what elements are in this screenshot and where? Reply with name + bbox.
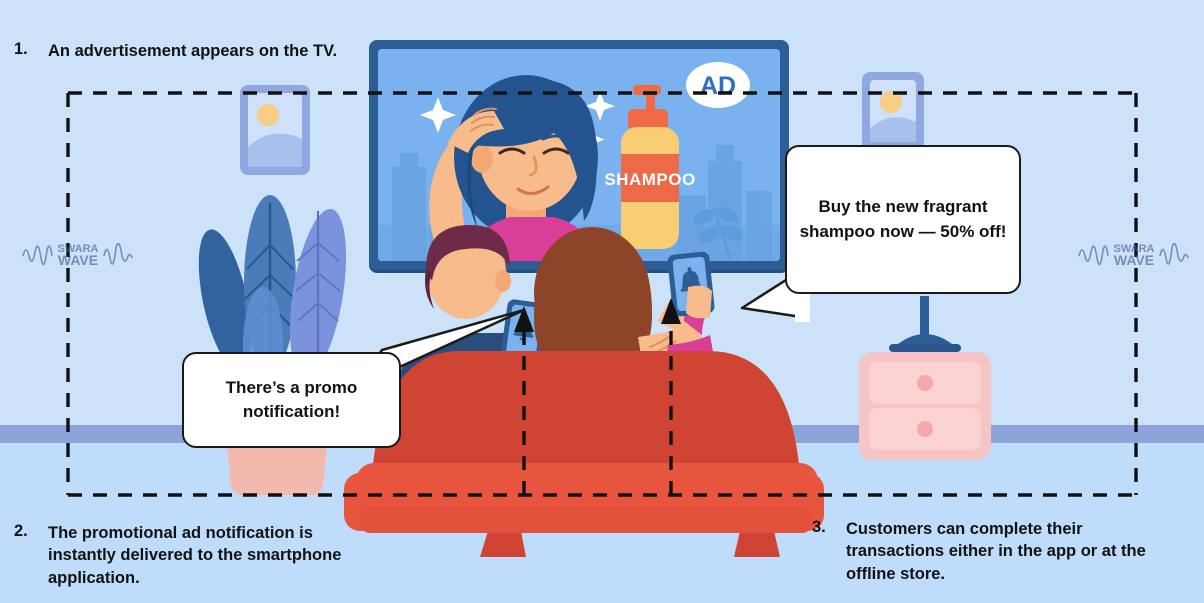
step-2-number: 2.: [14, 522, 34, 541]
framed-landscape-picture-right: [862, 72, 924, 150]
nightstand-with-lamp: [845, 296, 1015, 496]
shampoo-label: SHAMPOO: [604, 170, 695, 189]
phone-speech-bubble-text: There’s a promo notification!: [194, 376, 389, 424]
step-2-caption: 2. The promotional ad notification is in…: [14, 522, 364, 589]
watermark-line2: WAVE: [1114, 252, 1154, 268]
swara-wave-watermark-left: SWARA WAVE: [22, 236, 134, 272]
phone-speech-bubble: There’s a promo notification!: [182, 352, 401, 448]
swara-wave-watermark-right: SWARA WAVE: [1078, 236, 1190, 272]
ad-speech-bubble: Buy the new fragrant shampoo now — 50% o…: [785, 145, 1021, 294]
step-3-text: Customers can complete their transaction…: [846, 518, 1182, 585]
ad-speech-bubble-text: Buy the new fragrant shampoo now — 50% o…: [797, 195, 1009, 243]
ad-badge: AD: [686, 62, 750, 108]
step-1-number: 1.: [14, 40, 34, 59]
step-1-text: An advertisement appears on the TV.: [48, 40, 337, 62]
svg-text:AD: AD: [700, 72, 736, 100]
framed-landscape-picture-left: [240, 85, 310, 175]
step-1-caption: 1. An advertisement appears on the TV.: [14, 40, 364, 62]
step-3-caption: 3. Customers can complete their transact…: [812, 518, 1182, 585]
infographic-canvas: SHAMPOO AD: [0, 0, 1204, 603]
step-3-number: 3.: [812, 518, 832, 537]
watermark-line2: WAVE: [58, 252, 98, 268]
woman-phone: [667, 251, 715, 318]
step-2-text: The promotional ad notification is insta…: [48, 522, 364, 589]
